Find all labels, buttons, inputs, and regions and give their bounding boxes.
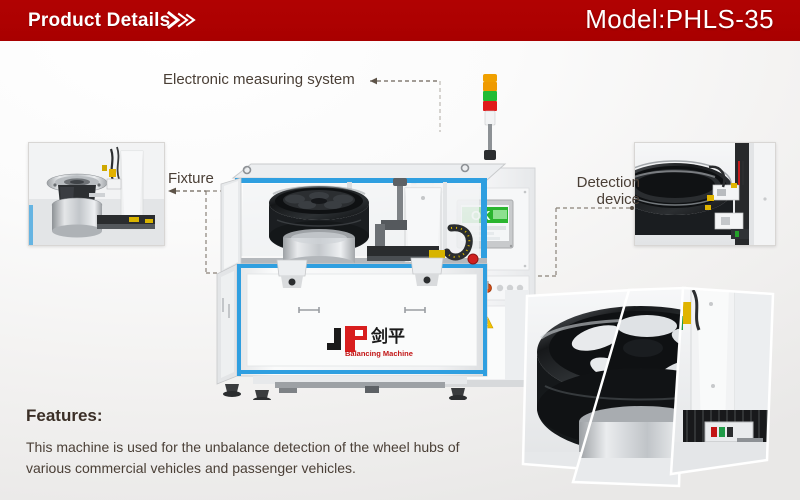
detection-inset-photo bbox=[634, 142, 776, 246]
callout-fixture: Fixture bbox=[168, 170, 214, 187]
wheel-collage-photo bbox=[505, 282, 800, 500]
features-body: This machine is used for the unbalance d… bbox=[26, 437, 486, 479]
balancing-machine-enclosure: 剑平 Balancing Machine bbox=[217, 164, 505, 400]
signal-tower-light bbox=[483, 74, 497, 160]
double-chevron-right-icon bbox=[165, 9, 211, 31]
callout-detection-device: Detection device bbox=[564, 174, 640, 208]
product-details-page: Product Details Model:PHLS-35 bbox=[0, 0, 800, 500]
machine-illustration: OK bbox=[215, 60, 555, 400]
features-title: Features: bbox=[26, 406, 103, 426]
brand-sub-text: Balancing Machine bbox=[345, 349, 413, 358]
model-number: Model:PHLS-35 bbox=[585, 4, 774, 35]
fixture-inset-photo bbox=[28, 142, 165, 246]
callout-detection-device-line2: device bbox=[564, 191, 640, 208]
machine-feet bbox=[223, 376, 467, 400]
page-header: Product Details Model:PHLS-35 bbox=[0, 0, 800, 41]
page-title: Product Details bbox=[28, 10, 170, 32]
brand-cjk-text: 剑平 bbox=[370, 326, 405, 346]
callout-detection-device-line1: Detection bbox=[564, 174, 640, 191]
